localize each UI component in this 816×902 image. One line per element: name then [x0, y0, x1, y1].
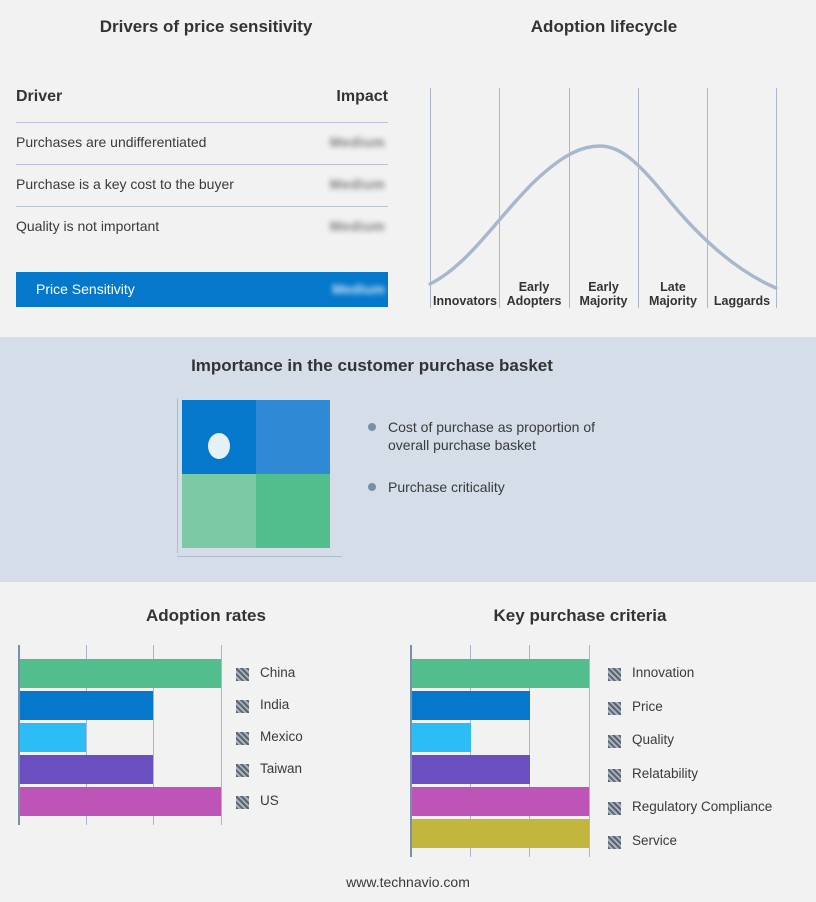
- bar-us: [20, 787, 221, 816]
- legend-item-label: US: [260, 793, 279, 808]
- lifecycle-divider: [638, 88, 639, 308]
- legend-item: Mexico: [236, 726, 386, 758]
- legend-item: Taiwan: [236, 758, 386, 790]
- legend-item-label: Price: [632, 699, 663, 714]
- lifecycle-label-early-majority: Early Majority: [571, 280, 636, 308]
- bullet-dot-icon: [368, 423, 376, 431]
- highlight-impact-value: Medium: [332, 281, 385, 297]
- legend-item-label: Service: [632, 833, 677, 848]
- hatched-swatch-icon: [236, 732, 249, 745]
- bar-taiwan: [20, 755, 153, 784]
- hatched-swatch-icon: [608, 769, 621, 782]
- impact-cell: Medium: [330, 218, 385, 234]
- adoption-lifecycle-chart: Innovators Early Adopters Early Majority…: [424, 88, 784, 308]
- basket-legend: Cost of purchase as proportion of overal…: [368, 418, 638, 496]
- legend-item: US: [236, 790, 386, 822]
- adoption-panel-title: Adoption rates: [16, 606, 396, 626]
- hatched-swatch-icon: [236, 700, 249, 713]
- footer-url: www.technavio.com: [0, 874, 816, 890]
- legend-item: Quality: [608, 729, 808, 763]
- table-row: Quality is not important Medium: [16, 207, 388, 248]
- bar-service: [412, 819, 589, 848]
- driver-cell: Purchase is a key cost to the buyer: [16, 176, 234, 192]
- legend-item-label: Purchase criticality: [388, 479, 505, 495]
- table-row: Purchase is a key cost to the buyer Medi…: [16, 165, 388, 206]
- basket-panel-title: Importance in the customer purchase bask…: [0, 356, 744, 376]
- adoption-rates-legend: China India Mexico Taiwan US: [236, 662, 386, 822]
- lifecycle-divider: [776, 88, 777, 308]
- legend-item: India: [236, 694, 386, 726]
- chart-gridline: [589, 645, 590, 857]
- matrix-x-axis: [177, 556, 342, 557]
- legend-item-label: Mexico: [260, 729, 303, 744]
- key-purchase-criteria-legend: Innovation Price Quality Relatability Re…: [608, 662, 808, 863]
- lifecycle-curve: [424, 88, 784, 308]
- criteria-panel-title: Key purchase criteria: [410, 606, 750, 626]
- legend-item: Purchase criticality: [368, 478, 638, 496]
- legend-item: Innovation: [608, 662, 808, 696]
- bar-mexico: [20, 723, 86, 752]
- legend-item: Relatability: [608, 763, 808, 797]
- column-header-driver: Driver: [16, 88, 62, 106]
- legend-item-label: China: [260, 665, 295, 680]
- hatched-swatch-icon: [608, 702, 621, 715]
- legend-item: Price: [608, 696, 808, 730]
- lifecycle-divider: [430, 88, 431, 308]
- driver-cell: Purchases are undifferentiated: [16, 134, 206, 150]
- hatched-swatch-icon: [608, 802, 621, 815]
- bar-quality: [412, 723, 471, 752]
- drivers-panel-title: Drivers of price sensitivity: [16, 17, 396, 37]
- matrix-data-point-marker: [208, 433, 230, 459]
- lifecycle-label-innovators: Innovators: [432, 294, 498, 308]
- price-sensitivity-highlight-row: Price Sensitivity Medium: [16, 272, 388, 307]
- lifecycle-label-late-majority: Late Majority: [640, 280, 706, 308]
- hatched-swatch-icon: [236, 668, 249, 681]
- legend-item-label: Relatability: [632, 766, 698, 781]
- lifecycle-label-laggards: Laggards: [709, 294, 775, 308]
- matrix-quadrant-bottom-left: [182, 474, 256, 548]
- bar-china: [20, 659, 221, 688]
- legend-item-label: Innovation: [632, 665, 694, 680]
- matrix-y-axis: [177, 398, 178, 553]
- legend-item: Service: [608, 830, 808, 864]
- legend-item-label: Regulatory Compliance: [632, 799, 772, 814]
- bar-price: [412, 691, 530, 720]
- legend-item: Regulatory Compliance: [608, 796, 808, 830]
- lifecycle-divider: [707, 88, 708, 308]
- driver-cell: Quality is not important: [16, 218, 159, 234]
- legend-item: Cost of purchase as proportion of overal…: [368, 418, 638, 454]
- legend-item-label: India: [260, 697, 289, 712]
- hatched-swatch-icon: [608, 836, 621, 849]
- legend-item-label: Quality: [632, 732, 674, 747]
- bar-innovation: [412, 659, 589, 688]
- bullet-dot-icon: [368, 483, 376, 491]
- matrix-quadrant-bottom-right: [256, 474, 330, 548]
- hatched-swatch-icon: [608, 735, 621, 748]
- hatched-swatch-icon: [608, 668, 621, 681]
- legend-item: China: [236, 662, 386, 694]
- table-row: Purchases are undifferentiated Medium: [16, 123, 388, 164]
- impact-cell: Medium: [330, 176, 385, 192]
- lifecycle-divider: [569, 88, 570, 308]
- bar-india: [20, 691, 153, 720]
- bar-regulatory-compliance: [412, 787, 589, 816]
- hatched-swatch-icon: [236, 796, 249, 809]
- lifecycle-divider: [499, 88, 500, 308]
- matrix-quadrant-top-right: [256, 400, 330, 474]
- drivers-table: Driver Impact Purchases are undifferenti…: [16, 88, 388, 248]
- bar-relatability: [412, 755, 530, 784]
- legend-item-label: Taiwan: [260, 761, 302, 776]
- lifecycle-panel-title: Adoption lifecycle: [424, 17, 784, 37]
- infographic-page: Drivers of price sensitivity Driver Impa…: [0, 0, 816, 902]
- impact-cell: Medium: [330, 134, 385, 150]
- hatched-swatch-icon: [236, 764, 249, 777]
- column-header-impact: Impact: [336, 88, 388, 106]
- purchase-basket-matrix: [182, 400, 330, 548]
- chart-gridline: [221, 645, 222, 825]
- legend-item-label: Cost of purchase as proportion of overal…: [388, 419, 595, 453]
- lifecycle-label-early-adopters: Early Adopters: [501, 280, 567, 308]
- table-header-row: Driver Impact: [16, 88, 388, 122]
- highlight-driver-label: Price Sensitivity: [36, 281, 135, 297]
